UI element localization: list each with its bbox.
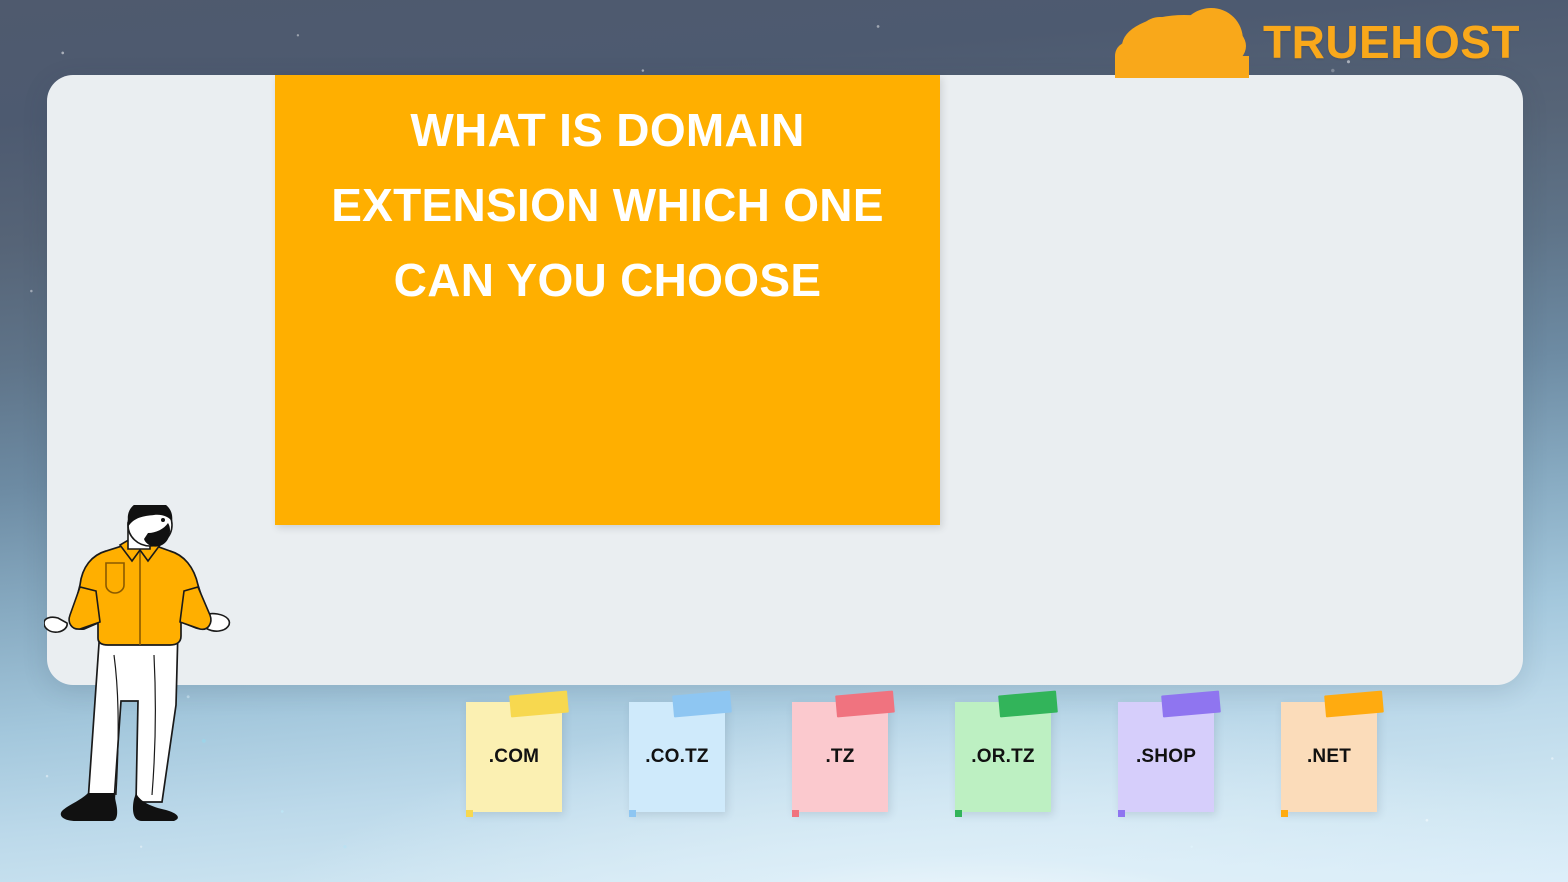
note-label: .NET — [1307, 746, 1351, 768]
brand-name: TRUEHOST — [1263, 19, 1520, 65]
slide-canvas: WHAT IS DOMAIN EXTENSION WHICH ONE CAN Y… — [0, 0, 1568, 882]
tape-strip-icon — [835, 691, 895, 718]
brand-logo[interactable]: TRUEHOST — [1113, 4, 1520, 80]
standing-man-illustration — [44, 505, 240, 850]
note-corner-fold — [629, 810, 636, 817]
note-label: .COM — [489, 746, 539, 768]
domain-extension-notes: .COM .CO.TZ .TZ .OR.TZ .SHOP .NET — [466, 702, 1406, 832]
note-corner-fold — [955, 810, 962, 817]
sticky-note-or-tz[interactable]: .OR.TZ — [955, 702, 1051, 812]
tape-strip-icon — [998, 691, 1058, 718]
note-label: .SHOP — [1136, 746, 1196, 768]
note-label: .OR.TZ — [971, 746, 1034, 768]
cloud-icon — [1113, 6, 1255, 78]
note-corner-fold — [1281, 810, 1288, 817]
sticky-note-net[interactable]: .NET — [1281, 702, 1377, 812]
page-title: WHAT IS DOMAIN EXTENSION WHICH ONE CAN Y… — [301, 93, 914, 318]
tape-strip-icon — [1161, 691, 1221, 718]
tape-strip-icon — [1324, 691, 1384, 718]
tape-strip-icon — [672, 691, 732, 718]
note-label: .TZ — [825, 746, 854, 768]
sticky-note-tz[interactable]: .TZ — [792, 702, 888, 812]
sticky-note-shop[interactable]: .SHOP — [1118, 702, 1214, 812]
note-label: .CO.TZ — [645, 746, 708, 768]
sticky-note-co-tz[interactable]: .CO.TZ — [629, 702, 725, 812]
note-corner-fold — [792, 810, 799, 817]
note-corner-fold — [1118, 810, 1125, 817]
note-corner-fold — [466, 810, 473, 817]
title-panel: WHAT IS DOMAIN EXTENSION WHICH ONE CAN Y… — [275, 75, 940, 525]
sticky-note-com[interactable]: .COM — [466, 702, 562, 812]
tape-strip-icon — [509, 691, 569, 718]
